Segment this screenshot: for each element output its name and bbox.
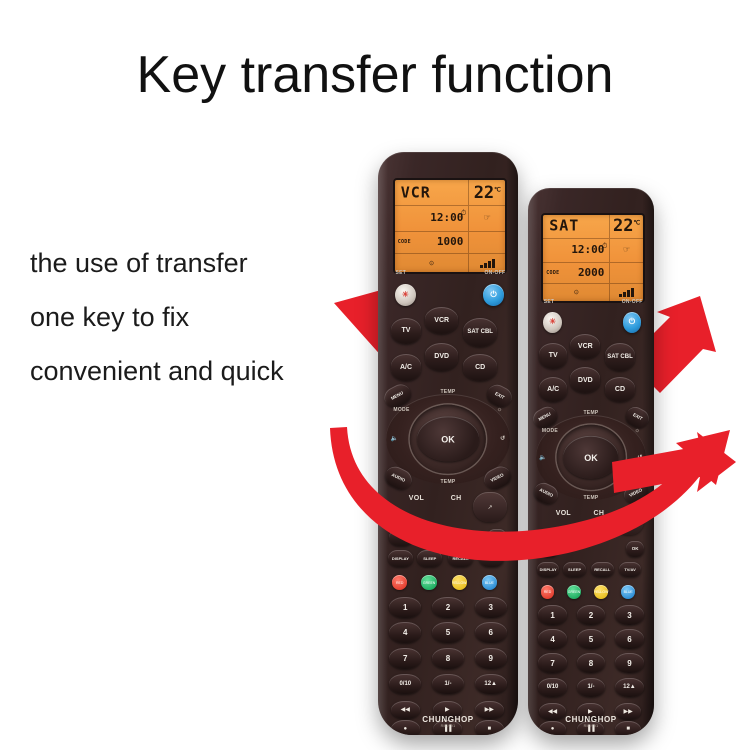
remote-control-right[interactable]: SAT 22℃ ⏱ 12:00 ☞ bbox=[528, 188, 654, 735]
ch-label-right: CH bbox=[594, 510, 605, 517]
key-1-left[interactable]: 1 bbox=[389, 597, 421, 618]
key-1-right[interactable]: 1 bbox=[538, 605, 567, 624]
vol-label-right: VOL bbox=[556, 510, 571, 517]
lcd-mode-left: VCR bbox=[401, 183, 431, 201]
power-icon: ⏻ bbox=[490, 291, 496, 299]
vol-ch-rocker-left[interactable]: ↗ bbox=[473, 492, 507, 522]
device-button-dvd-left[interactable]: DVD bbox=[425, 343, 459, 370]
key-12-up-right[interactable]: 12▲ bbox=[615, 678, 644, 697]
on-off-label-left: ON-OFF bbox=[484, 270, 505, 276]
color-key-yellow-left[interactable]: YELLOW bbox=[452, 575, 467, 590]
brand-name-right: CHUNGHOP bbox=[565, 715, 616, 724]
temp-up-label-right: TEMP bbox=[583, 410, 598, 416]
lcd-code-left: 1000 bbox=[437, 235, 464, 248]
color-key-blue-right[interactable]: BLUE bbox=[621, 585, 635, 599]
description-line-2: one key to fix bbox=[30, 304, 360, 331]
device-button-ac-right[interactable]: A/C bbox=[539, 377, 567, 402]
color-key-yellow-right[interactable]: YELLOW bbox=[594, 585, 608, 599]
mute-small-icon: 🔈 bbox=[539, 454, 547, 461]
key-0-10-right[interactable]: 0/10 bbox=[538, 678, 567, 697]
description-text: the use of transfer one key to fix conve… bbox=[30, 250, 360, 412]
key-8-right[interactable]: 8 bbox=[577, 653, 606, 672]
key-1-minus-right[interactable]: 1/- bbox=[577, 678, 606, 697]
color-key-green-right[interactable]: GREEN bbox=[567, 585, 581, 599]
set-light-button-left[interactable]: ☀ bbox=[395, 284, 416, 307]
mute-label-right: MUTE bbox=[539, 530, 554, 536]
device-button-cd-right[interactable]: CD bbox=[605, 377, 635, 402]
signal-bars-icon bbox=[619, 288, 634, 297]
lcd-code-label-right: CODE bbox=[546, 270, 559, 276]
lcd-temperature-left: 22 bbox=[474, 183, 494, 203]
power-button-right[interactable]: ⏻ bbox=[623, 312, 642, 333]
description-line-3: convenient and quick bbox=[30, 358, 360, 385]
ch-label-left: CH bbox=[451, 495, 462, 502]
temp-down-label-right: TEMP bbox=[583, 495, 598, 501]
gear-icon: ⚙ bbox=[429, 259, 434, 268]
model-number-right: RM-991 bbox=[528, 724, 654, 728]
key-3-left[interactable]: 3 bbox=[475, 597, 507, 618]
device-button-tv-left[interactable]: TV bbox=[391, 318, 422, 345]
key-9-left[interactable]: 9 bbox=[475, 648, 507, 669]
lcd-code-right: 2000 bbox=[578, 266, 605, 279]
key-0-10-left[interactable]: 0/10 bbox=[389, 674, 421, 695]
remote-control-left[interactable]: VCR 22℃ ⏱ 12:00 ☞ bbox=[378, 152, 518, 735]
model-number-left: RM-991 bbox=[378, 724, 518, 728]
key-9-right[interactable]: 9 bbox=[615, 653, 644, 672]
mute-button-left[interactable]: × bbox=[389, 529, 413, 546]
device-button-dvd-right[interactable]: DVD bbox=[570, 367, 600, 393]
page-title: Key transfer function bbox=[0, 45, 750, 105]
key-1-minus-left[interactable]: 1/- bbox=[432, 674, 464, 695]
signal-bars-icon bbox=[480, 259, 495, 268]
key-6-left[interactable]: 6 bbox=[475, 622, 507, 643]
sleep-button-right[interactable]: SLEEP bbox=[563, 562, 586, 578]
description-line-1: the use of transfer bbox=[30, 250, 360, 277]
on-off-label-right: ON-OFF bbox=[622, 299, 643, 305]
lcd-temperature-right: 22 bbox=[613, 216, 633, 236]
lightbulb-icon: ☀ bbox=[402, 291, 409, 299]
vol-label-left: VOL bbox=[409, 495, 424, 502]
device-button-vcr-left[interactable]: VCR bbox=[425, 307, 459, 334]
key-4-right[interactable]: 4 bbox=[538, 629, 567, 648]
key-7-right[interactable]: 7 bbox=[538, 653, 567, 672]
brand-logo-left: CHUNGHOP RM-991 bbox=[378, 715, 518, 728]
product-image-stage: Key transfer function the use of transfe… bbox=[0, 0, 750, 750]
power-button-left[interactable]: ⏻ bbox=[483, 284, 504, 307]
mute-button-right[interactable]: × bbox=[538, 541, 559, 557]
recall-button-left[interactable]: RECALL bbox=[448, 550, 473, 567]
key-2-left[interactable]: 2 bbox=[432, 597, 464, 618]
power-small-icon: ↺ bbox=[637, 454, 642, 461]
set-light-button-right[interactable]: ☀ bbox=[543, 312, 562, 333]
key-4-left[interactable]: 4 bbox=[389, 622, 421, 643]
lcd-mode-right: SAT bbox=[549, 217, 579, 235]
key-6-right[interactable]: 6 bbox=[615, 629, 644, 648]
lcd-time-left: 12:00 bbox=[430, 211, 463, 224]
vol-ch-rocker-right[interactable]: ↗ bbox=[614, 507, 644, 535]
lcd-display-right: SAT 22℃ ⏱ 12:00 ☞ bbox=[541, 213, 645, 303]
temp-up-label-left: TEMP bbox=[440, 389, 455, 395]
ok-secondary-button-left[interactable]: OK bbox=[487, 529, 507, 546]
brand-logo-right: CHUNGHOP RM-991 bbox=[528, 715, 654, 728]
brightness-icon: ☼ bbox=[634, 428, 640, 434]
key-5-right[interactable]: 5 bbox=[577, 629, 606, 648]
lcd-temp-unit-left: ℃ bbox=[494, 186, 501, 193]
tv-av-button-left[interactable]: TV/AV bbox=[479, 550, 504, 567]
lcd-temp-unit-right: ℃ bbox=[633, 220, 640, 227]
lcd-time-right: 12:00 bbox=[571, 243, 604, 256]
device-button-cd-left[interactable]: CD bbox=[463, 354, 497, 381]
brightness-icon: ☼ bbox=[497, 407, 503, 413]
hand-icon: ☞ bbox=[484, 213, 490, 224]
ok-button-left[interactable]: OK bbox=[417, 417, 479, 462]
recall-button-right[interactable]: RECALL bbox=[591, 562, 614, 578]
gear-icon: ⚙ bbox=[574, 288, 579, 297]
color-key-red-left[interactable]: RED bbox=[392, 575, 407, 590]
device-button-sat-cbl-right[interactable]: SAT CBL bbox=[605, 343, 635, 371]
sleep-button-left[interactable]: SLEEP bbox=[417, 550, 442, 567]
device-button-ac-left[interactable]: A/C bbox=[391, 354, 422, 381]
mute-label-left: MUTE bbox=[390, 517, 405, 523]
ok-secondary-button-right[interactable]: OK bbox=[626, 541, 644, 557]
color-key-red-right[interactable]: RED bbox=[541, 585, 555, 599]
key-3-right[interactable]: 3 bbox=[615, 605, 644, 624]
key-5-left[interactable]: 5 bbox=[432, 622, 464, 643]
lcd-display-left: VCR 22℃ ⏱ 12:00 ☞ bbox=[393, 178, 508, 274]
power-icon: ⏻ bbox=[629, 318, 635, 326]
mute-small-icon: 🔈 bbox=[391, 435, 399, 442]
color-key-green-left[interactable]: GREEN bbox=[421, 575, 436, 590]
set-label-left: SET bbox=[396, 270, 407, 276]
display-button-left[interactable]: DISPLAY bbox=[388, 550, 413, 567]
set-label-right: SET bbox=[544, 299, 555, 305]
key-7-left[interactable]: 7 bbox=[389, 648, 421, 669]
temp-down-label-left: TEMP bbox=[440, 479, 455, 485]
color-key-blue-left[interactable]: BLUE bbox=[482, 575, 497, 590]
hand-icon: ☞ bbox=[624, 245, 630, 256]
mode-label-right: MODE bbox=[542, 428, 558, 434]
lightbulb-icon: ☀ bbox=[549, 318, 556, 326]
device-button-sat-cbl-left[interactable]: SAT CBL bbox=[463, 318, 497, 348]
display-button-right[interactable]: DISPLAY bbox=[537, 562, 560, 578]
device-button-vcr-right[interactable]: VCR bbox=[570, 334, 600, 360]
power-small-icon: ↺ bbox=[500, 435, 505, 442]
mode-label-left: MODE bbox=[393, 407, 409, 413]
brand-name-left: CHUNGHOP bbox=[422, 715, 473, 724]
lcd-code-label-left: CODE bbox=[398, 239, 411, 245]
tv-av-button-right[interactable]: TV/AV bbox=[619, 562, 642, 578]
device-button-tv-right[interactable]: TV bbox=[539, 343, 567, 368]
key-12-up-left[interactable]: 12▲ bbox=[475, 674, 507, 695]
key-2-right[interactable]: 2 bbox=[577, 605, 606, 624]
key-8-left[interactable]: 8 bbox=[432, 648, 464, 669]
